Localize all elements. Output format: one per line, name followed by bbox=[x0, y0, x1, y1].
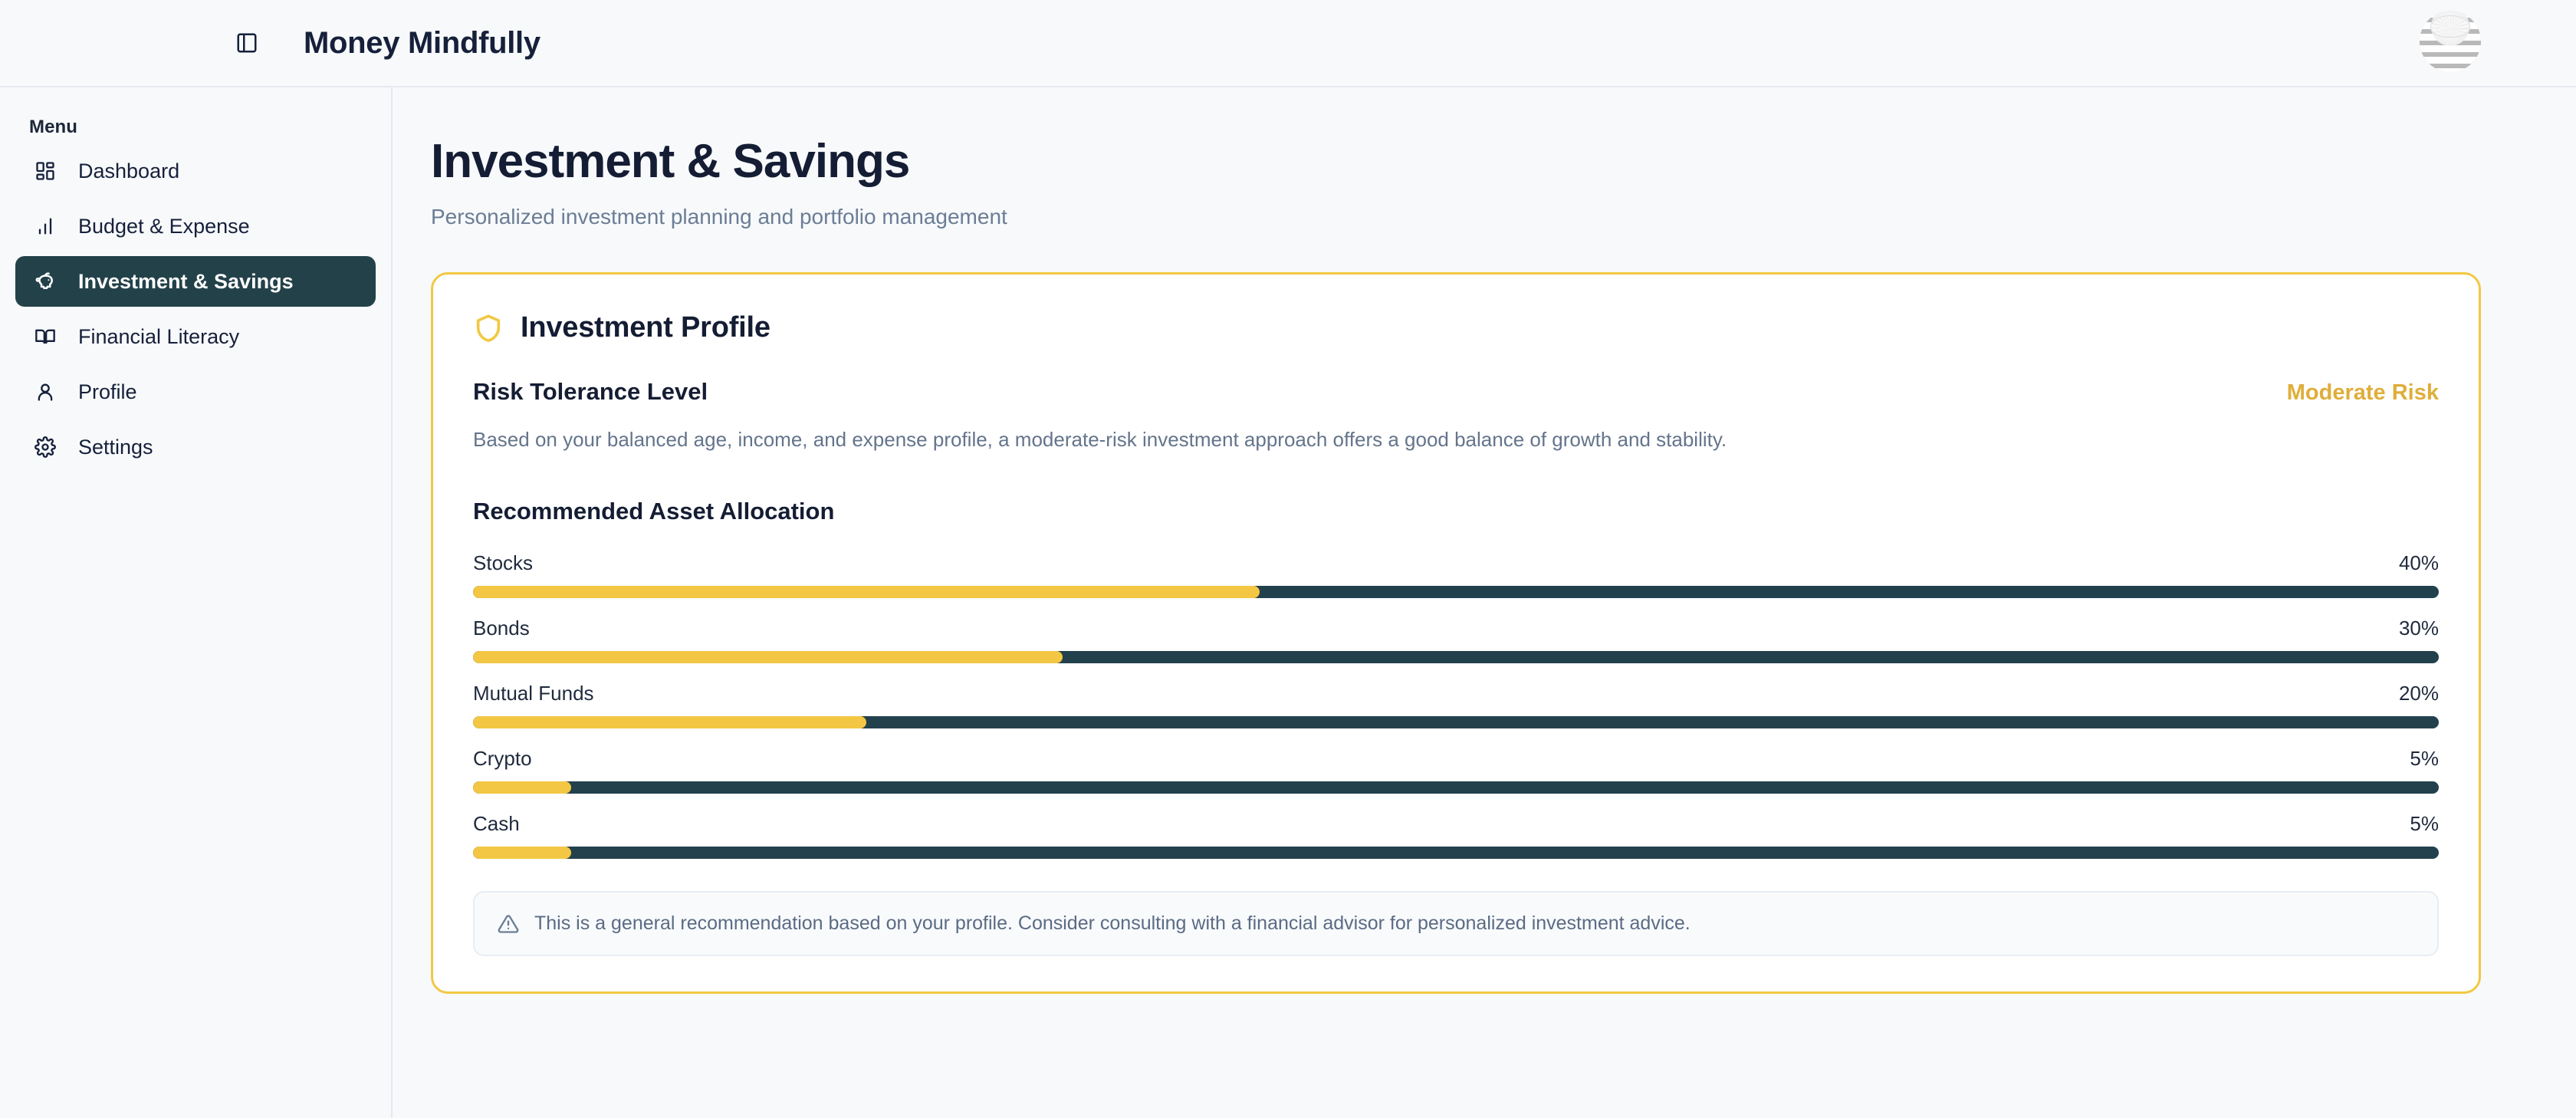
book-open-icon bbox=[32, 324, 58, 350]
allocation-bar-fill bbox=[473, 716, 866, 728]
allocation-percent: 5% bbox=[2410, 747, 2439, 771]
allocation-name: Crypto bbox=[473, 747, 532, 771]
disclaimer-text: This is a general recommendation based o… bbox=[534, 912, 1691, 935]
avatar-image bbox=[2420, 11, 2481, 72]
risk-description: Based on your balanced age, income, and … bbox=[473, 426, 2439, 455]
allocation-bar-track bbox=[473, 847, 2439, 859]
allocation-bar-fill bbox=[473, 651, 1063, 663]
list-item: Mutual Funds 20% bbox=[473, 682, 2439, 728]
panel-left-icon[interactable] bbox=[230, 26, 264, 60]
sidebar-item-dashboard[interactable]: Dashboard bbox=[15, 146, 376, 196]
list-item: Bonds 30% bbox=[473, 617, 2439, 663]
sidebar-item-profile[interactable]: Profile bbox=[15, 367, 376, 417]
sidebar-item-label: Dashboard bbox=[78, 159, 179, 183]
allocation-title: Recommended Asset Allocation bbox=[473, 498, 2439, 525]
bar-chart-icon bbox=[32, 213, 58, 239]
sidebar-item-settings[interactable]: Settings bbox=[15, 422, 376, 472]
allocation-percent: 30% bbox=[2399, 617, 2439, 640]
allocation-name: Bonds bbox=[473, 617, 530, 640]
list-item: Cash 5% bbox=[473, 812, 2439, 859]
allocation-bar-track bbox=[473, 586, 2439, 598]
page-subtitle: Personalized investment planning and por… bbox=[431, 205, 2481, 229]
gear-icon bbox=[32, 434, 58, 460]
sidebar-item-label: Settings bbox=[78, 436, 153, 459]
sidebar-item-label: Financial Literacy bbox=[78, 325, 239, 349]
allocation-percent: 40% bbox=[2399, 551, 2439, 575]
card-title: Investment Profile bbox=[521, 311, 770, 344]
avatar[interactable] bbox=[2420, 11, 2481, 72]
card-header: Investment Profile bbox=[473, 311, 2439, 344]
layout-grid-icon bbox=[32, 158, 58, 184]
top-bar: Money Mindfully bbox=[0, 0, 2576, 87]
allocation-bar-fill bbox=[473, 781, 571, 794]
list-item: Crypto 5% bbox=[473, 747, 2439, 794]
sidebar-item-financial-literacy[interactable]: Financial Literacy bbox=[15, 311, 376, 362]
risk-tolerance-label: Risk Tolerance Level bbox=[473, 378, 708, 406]
allocation-name: Cash bbox=[473, 812, 520, 836]
allocation-bar-track bbox=[473, 716, 2439, 728]
sidebar: Menu Dashboard Budget & Expens bbox=[0, 87, 393, 1118]
allocation-percent: 20% bbox=[2399, 682, 2439, 705]
sidebar-item-label: Investment & Savings bbox=[78, 270, 294, 294]
sidebar-item-label: Profile bbox=[78, 380, 137, 404]
sidebar-section-label: Menu bbox=[15, 106, 376, 146]
allocation-bar-fill bbox=[473, 847, 571, 859]
sidebar-item-label: Budget & Expense bbox=[78, 215, 250, 238]
sidebar-item-investment-savings[interactable]: Investment & Savings bbox=[15, 256, 376, 307]
list-item: Stocks 40% bbox=[473, 551, 2439, 598]
user-icon bbox=[32, 379, 58, 405]
shield-icon bbox=[473, 313, 504, 344]
alert-triangle-icon bbox=[498, 913, 519, 935]
allocation-percent: 5% bbox=[2410, 812, 2439, 836]
allocation-list: Stocks 40% Bonds 30% bbox=[473, 551, 2439, 859]
page-title: Investment & Savings bbox=[431, 135, 2481, 188]
piggy-bank-icon bbox=[32, 268, 58, 294]
main-content: Investment & Savings Personalized invest… bbox=[393, 87, 2576, 1118]
allocation-name: Mutual Funds bbox=[473, 682, 594, 705]
sidebar-item-budget-expense[interactable]: Budget & Expense bbox=[15, 201, 376, 252]
risk-tolerance-row: Risk Tolerance Level Moderate Risk bbox=[473, 378, 2439, 406]
allocation-bar-track bbox=[473, 651, 2439, 663]
allocation-bar-track bbox=[473, 781, 2439, 794]
investment-profile-card: Investment Profile Risk Tolerance Level … bbox=[431, 272, 2481, 994]
allocation-name: Stocks bbox=[473, 551, 533, 575]
status-badge: Moderate Risk bbox=[2287, 380, 2439, 406]
disclaimer-note: This is a general recommendation based o… bbox=[473, 891, 2439, 956]
app-brand-title: Money Mindfully bbox=[304, 26, 540, 61]
app-shell: Menu Dashboard Budget & Expens bbox=[0, 87, 2576, 1118]
allocation-bar-fill bbox=[473, 586, 1260, 598]
